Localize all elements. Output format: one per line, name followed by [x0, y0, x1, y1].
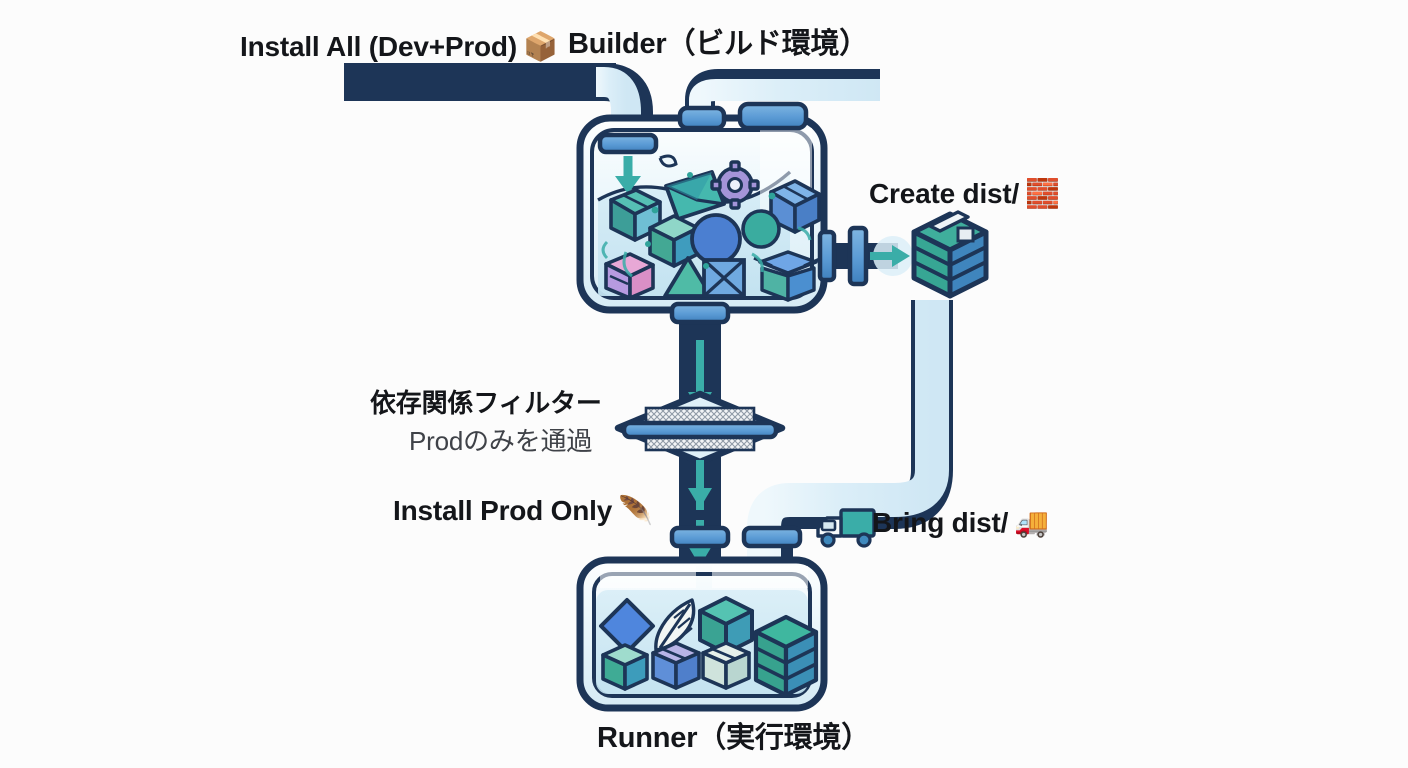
label-create-dist: Create dist/ 🧱: [869, 177, 1060, 210]
label-install-all-text: Install All (Dev+Prod): [240, 31, 517, 63]
label-runner: Runner（実行環境）: [597, 714, 870, 756]
label-install-prod: Install Prod Only 🪶: [393, 494, 653, 527]
tank-fitting-right: [740, 104, 806, 128]
label-install-prod-text: Install Prod Only: [393, 495, 612, 527]
icon-circle-teal: [743, 211, 779, 247]
diagram-canvas: Install All (Dev+Prod) 📦 Builder（ビルド環境） …: [0, 0, 1408, 768]
label-bring-dist-text: Bring dist/: [872, 507, 1008, 539]
brick-emoji-icon: 🧱: [1025, 177, 1060, 210]
package-emoji-icon: 📦: [523, 30, 558, 63]
label-builder-text: Builder（ビルド環境）: [568, 20, 868, 62]
filter-unit[interactable]: [618, 394, 782, 462]
label-builder: Builder（ビルド環境）: [568, 20, 868, 62]
runner-tank[interactable]: [580, 560, 824, 708]
label-install-all: Install All (Dev+Prod) 📦: [240, 30, 558, 63]
feather-emoji-icon: 🪶: [618, 494, 653, 527]
truck-emoji-icon: 🚚: [1014, 506, 1049, 539]
icon-package-box-pale: [703, 643, 749, 688]
runner-inlet-flange-left: [672, 528, 728, 546]
icon-stacked-layers-green: [756, 617, 816, 695]
icon-circle-blue: [692, 215, 740, 263]
tank-fitting-left: [680, 108, 724, 128]
icon-cube-teal-small: [603, 645, 647, 689]
dist-artifact-icon[interactable]: [914, 212, 986, 296]
icon-x-square-blue: [704, 260, 744, 296]
label-create-dist-text: Create dist/: [869, 178, 1019, 210]
label-filter-subtitle: Prodのみを通過: [409, 421, 592, 458]
inlet-flange: [600, 135, 656, 152]
builder-tank[interactable]: [580, 104, 824, 322]
label-bring-dist: Bring dist/ 🚚: [872, 506, 1049, 539]
filter-bar: [624, 423, 776, 437]
dist-flange-outer: [850, 228, 866, 284]
icon-package-box-blue: [653, 643, 699, 688]
runner-inlet-flange-right: [744, 528, 800, 546]
pipeline-diagram: [0, 0, 1408, 768]
label-filter-title: 依存関係フィルター: [370, 383, 602, 420]
dist-flange-inner: [820, 232, 834, 280]
builder-outlet-flange: [672, 304, 728, 322]
